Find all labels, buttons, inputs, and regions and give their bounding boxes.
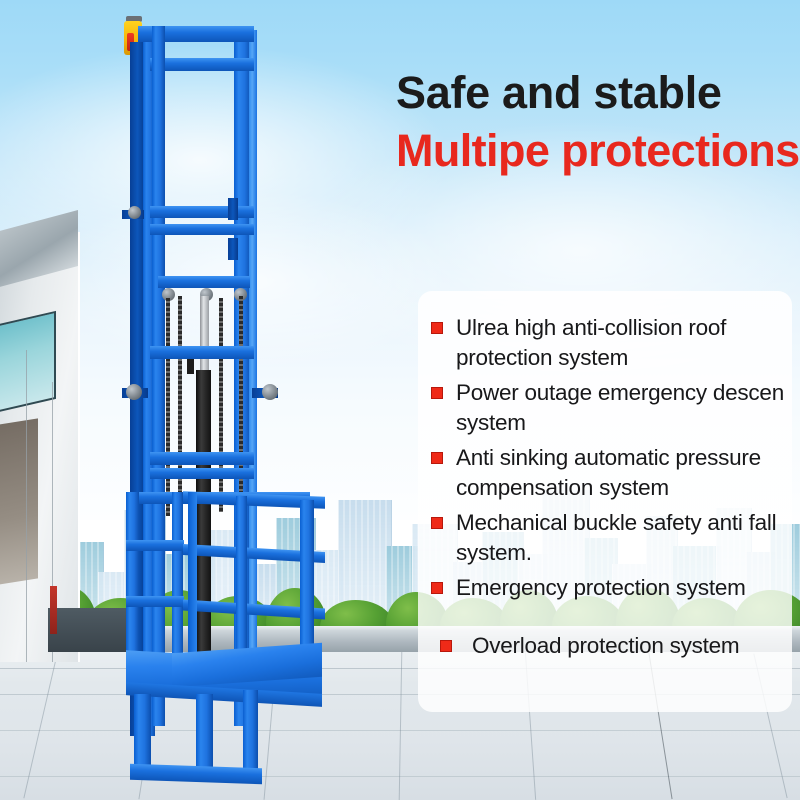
mast-bracket — [228, 198, 238, 220]
list-item-label: Mechanical buckle safety anti fall syste… — [456, 510, 776, 565]
list-item: Anti sinking automatic pressure compensa… — [428, 443, 784, 503]
lift-chain — [219, 298, 223, 512]
list-item-label: Ulrea high anti-collision roof protectio… — [456, 315, 726, 370]
list-item-label: Overload protection system — [472, 633, 739, 658]
roller-wheel — [126, 384, 142, 400]
list-item: Ulrea high anti-collision roof protectio… — [428, 313, 784, 373]
mast-mid-brace — [150, 346, 254, 359]
roller-wheel — [128, 206, 141, 219]
marketing-banner: Safe and stable Multipe protections Ulre… — [0, 0, 800, 800]
list-item: Overload protection system — [428, 631, 784, 661]
chain-head-plate — [158, 276, 250, 288]
feature-list: Ulrea high anti-collision roof protectio… — [428, 313, 784, 661]
cage-inner-post — [188, 492, 197, 660]
list-item: Power outage emergency descen system — [428, 378, 784, 438]
cage-rail-left — [126, 540, 184, 551]
list-item: Mechanical buckle safety anti fall syste… — [428, 508, 784, 568]
base-foot-rail — [130, 764, 262, 785]
list-item-label: Power outage emergency descen system — [456, 380, 784, 435]
bullet-square-icon — [431, 517, 443, 529]
cage-post-right-mid — [236, 496, 247, 668]
mast-cross-brace — [150, 206, 254, 218]
lift-chain — [166, 298, 170, 516]
mast-mid-brace — [150, 452, 254, 465]
mast-cross-brace — [150, 224, 254, 235]
cage-rail-left — [126, 596, 184, 607]
mast-mid-brace — [150, 468, 254, 479]
mast-top-beam-2 — [150, 58, 254, 71]
lift-chain — [239, 296, 243, 514]
list-item: Emergency protection system — [428, 573, 784, 603]
bullet-square-icon — [431, 582, 443, 594]
bullet-square-icon — [440, 640, 452, 652]
bullet-square-icon — [431, 387, 443, 399]
bullet-square-icon — [431, 322, 443, 334]
headline-primary: Safe and stable — [396, 66, 794, 120]
list-item-label: Anti sinking automatic pressure compensa… — [456, 445, 761, 500]
base-leg-right — [243, 690, 258, 772]
headline-block: Safe and stable Multipe protections — [396, 66, 794, 178]
cage-post-left-mid — [172, 492, 183, 668]
roller-wheel — [262, 384, 278, 400]
bullet-square-icon — [431, 452, 443, 464]
lift-chain — [178, 296, 182, 520]
headline-secondary: Multipe protections — [396, 124, 794, 178]
feature-panel: Ulrea high anti-collision roof protectio… — [418, 291, 792, 712]
list-item-label: Emergency protection system — [456, 575, 746, 600]
mast-right-column-edge — [249, 30, 257, 720]
mast-inner-post — [152, 26, 165, 726]
mast-bracket — [228, 238, 238, 260]
